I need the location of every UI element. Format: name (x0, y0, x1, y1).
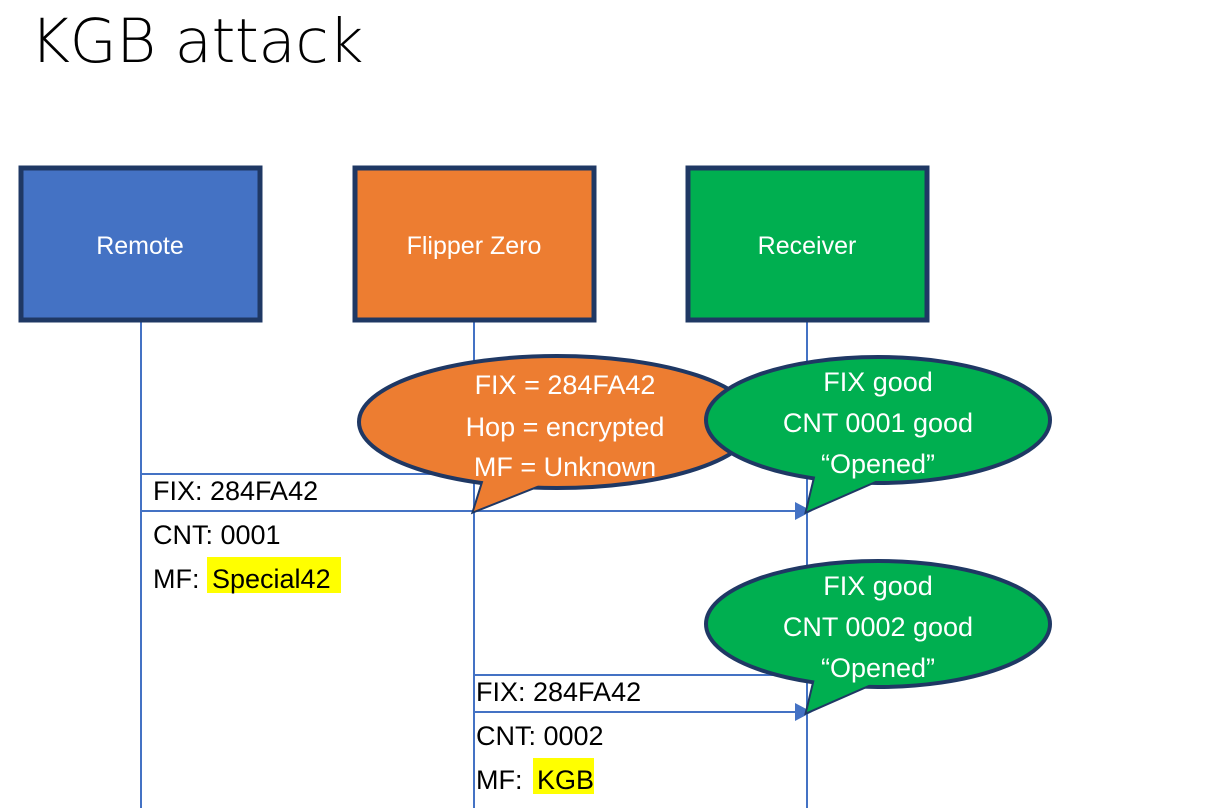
callout-receiver-2-line-2: CNT 0002 good (783, 612, 973, 642)
message-2-line-3-prefix: MF: (476, 765, 523, 795)
actor-box-remote[interactable]: Remote (21, 168, 260, 320)
callout-flipper[interactable]: FIX = 284FA42 Hop = encrypted MF = Unkno… (359, 356, 755, 511)
callout-flipper-line-1: FIX = 284FA42 (475, 370, 656, 400)
message-2-line-2: CNT: 0002 (476, 721, 604, 751)
message-2-label: FIX: 284FA42 CNT: 0002 MF: KGB (476, 677, 641, 795)
actor-label-remote: Remote (96, 232, 184, 260)
callout-receiver-1-line-3: “Opened” (821, 449, 935, 479)
callout-flipper-line-2: Hop = encrypted (466, 412, 665, 442)
callout-receiver-2[interactable]: FIX good CNT 0002 good “Opened” (706, 561, 1050, 712)
actor-label-flipper: Flipper Zero (407, 232, 542, 260)
message-1-line-2: CNT: 0001 (153, 520, 281, 550)
actor-box-flipper[interactable]: Flipper Zero (355, 168, 594, 320)
callout-receiver-1[interactable]: FIX good CNT 0001 good “Opened” (706, 357, 1050, 511)
callout-receiver-1-line-2: CNT 0001 good (783, 408, 973, 438)
slide-canvas: KGB attack Remote Flipper Zero (0, 0, 1218, 808)
callout-receiver-2-line-3: “Opened” (821, 653, 935, 683)
callout-receiver-2-line-1: FIX good (823, 571, 933, 601)
message-1-label: FIX: 284FA42 CNT: 0001 MF: Special42 (153, 476, 341, 594)
message-1-line-3-prefix: MF: (153, 564, 200, 594)
sequence-diagram: Remote Flipper Zero Receiver FIX: 284FA4… (0, 0, 1218, 808)
callout-flipper-line-3: MF = Unknown (474, 452, 656, 482)
actor-box-receiver[interactable]: Receiver (688, 168, 927, 320)
message-1-highlight-text: Special42 (212, 564, 331, 594)
callout-receiver-1-line-1: FIX good (823, 367, 933, 397)
message-1-line-1: FIX: 284FA42 (153, 476, 318, 506)
actor-label-receiver: Receiver (758, 232, 857, 260)
message-2-highlight-text: KGB (537, 765, 594, 795)
message-2-line-1: FIX: 284FA42 (476, 677, 641, 707)
